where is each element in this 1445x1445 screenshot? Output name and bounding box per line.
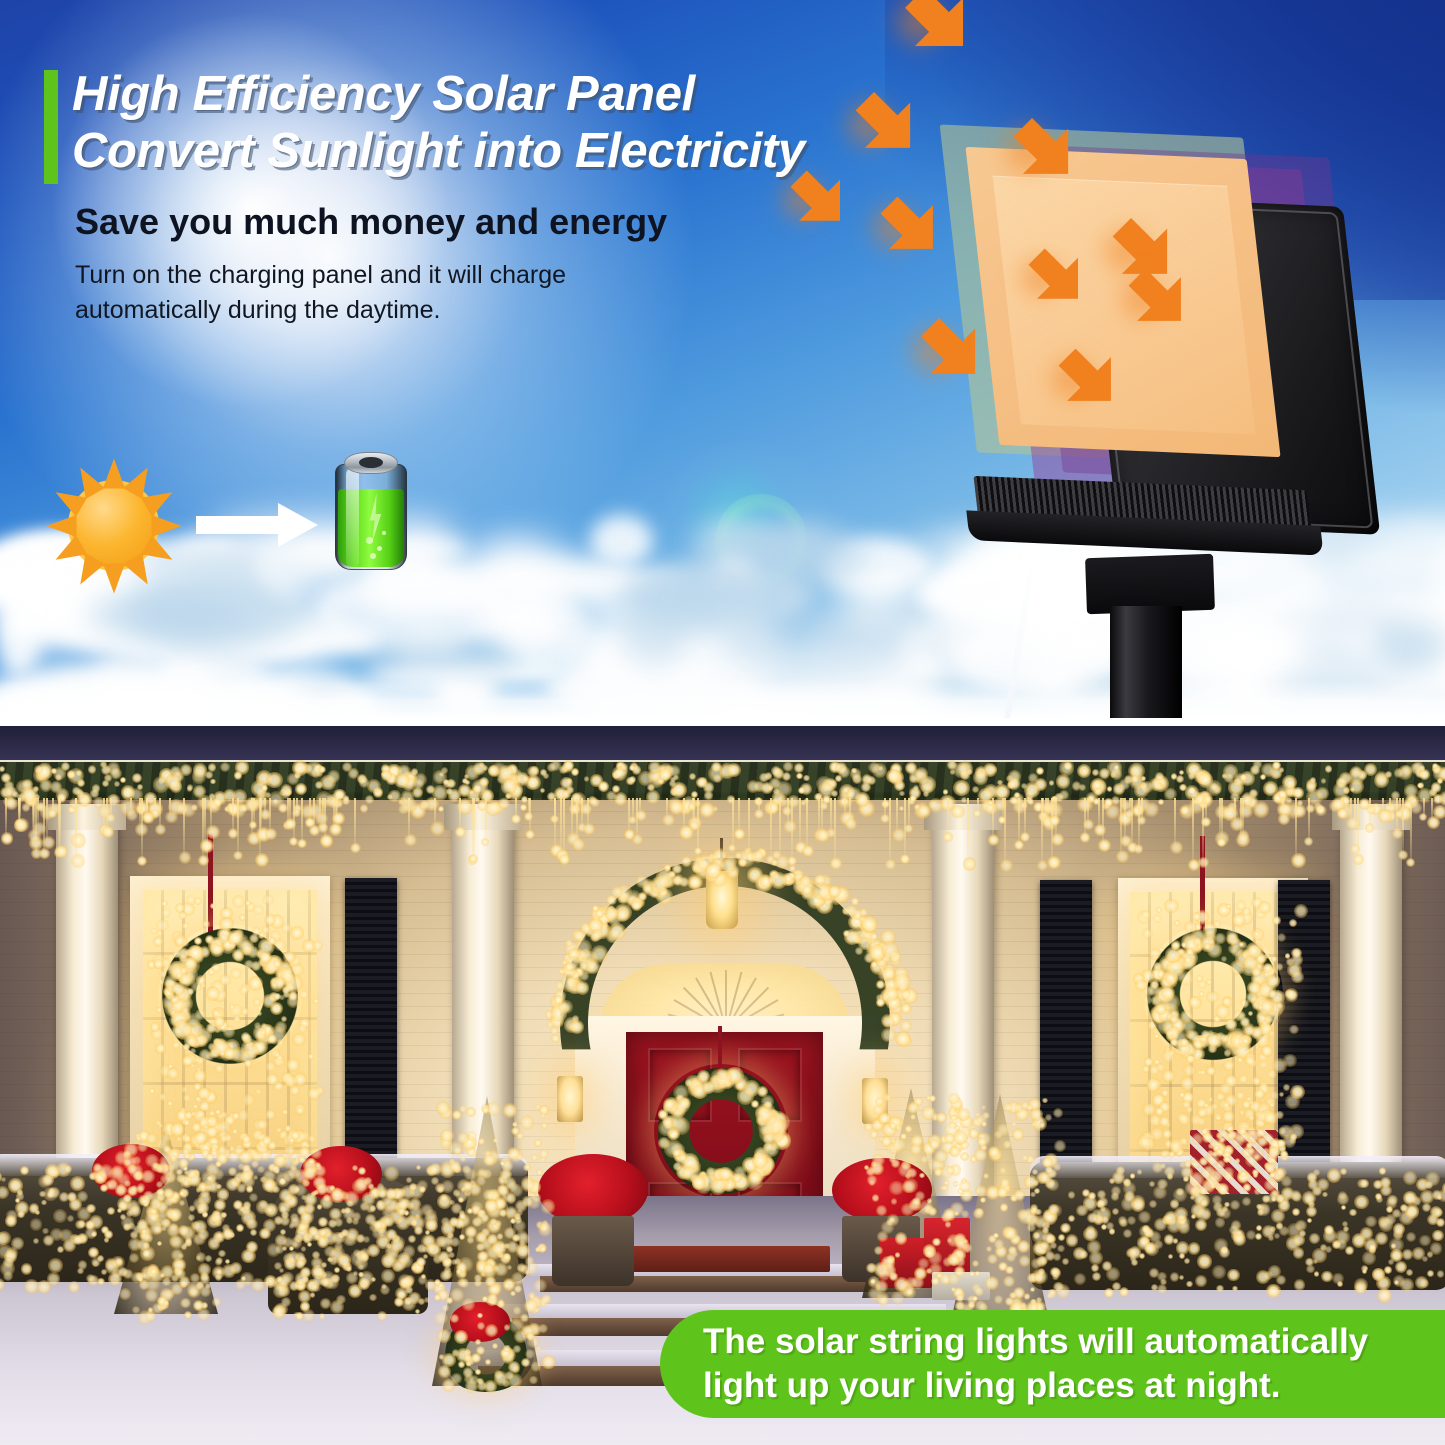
string-light-bulb xyxy=(1400,1278,1414,1292)
string-light-bulb xyxy=(239,986,249,996)
string-light-bulb xyxy=(285,818,296,829)
string-light-bulb xyxy=(1183,1064,1196,1077)
string-light-bulb xyxy=(20,1166,28,1174)
string-light-bulb xyxy=(659,768,672,781)
string-light-bulb xyxy=(281,1297,291,1307)
string-light-bulb xyxy=(329,823,342,836)
cloud-puff xyxy=(0,699,115,718)
string-light-bulb xyxy=(565,939,573,947)
string-light-bulb xyxy=(180,1298,191,1309)
string-light-bulb xyxy=(17,1189,24,1196)
string-light-bulb xyxy=(449,1160,461,1172)
icicle-light-strand xyxy=(1410,798,1412,862)
string-light-bulb xyxy=(528,1192,536,1200)
string-light-bulb xyxy=(1236,833,1250,847)
string-light-bulb xyxy=(1050,1242,1057,1249)
string-light-bulb xyxy=(1332,1273,1344,1285)
string-light-bulb xyxy=(953,780,969,796)
string-light-bulb xyxy=(483,1154,495,1166)
string-light-bulb xyxy=(541,1122,548,1129)
string-light-bulb xyxy=(900,1003,911,1014)
string-light-bulb xyxy=(1062,1258,1068,1264)
icicle-light-strand xyxy=(992,798,994,838)
string-light-bulb xyxy=(208,1237,220,1249)
icicle-light-strand xyxy=(473,798,475,858)
string-light-bulb xyxy=(1003,1276,1015,1288)
string-light-bulb xyxy=(209,1110,215,1116)
string-light-bulb xyxy=(360,804,368,812)
string-light-bulb xyxy=(298,1024,307,1033)
planter-left xyxy=(552,1216,634,1286)
string-light-bulb xyxy=(629,776,635,782)
panel-divider xyxy=(0,718,1445,726)
string-light-bulb xyxy=(381,1269,395,1283)
string-light-bulb xyxy=(1045,1114,1052,1121)
string-light-bulb xyxy=(273,1284,287,1298)
string-light-bulb xyxy=(1291,971,1303,983)
string-light-bulb xyxy=(191,1122,202,1133)
string-light-bulb xyxy=(919,1173,924,1178)
string-light-bulb xyxy=(867,1175,877,1185)
string-light-bulb xyxy=(327,770,340,783)
string-light-bulb xyxy=(1215,1217,1225,1227)
string-light-bulb xyxy=(1,832,13,844)
string-light-bulb xyxy=(560,777,572,789)
string-light-bulb xyxy=(421,1204,433,1216)
string-light-bulb xyxy=(244,1059,253,1068)
string-light-bulb xyxy=(521,1358,530,1367)
string-light-bulb xyxy=(1286,797,1292,803)
string-light-bulb xyxy=(1208,1097,1213,1102)
battery-bubble xyxy=(377,546,382,551)
string-light-bulb xyxy=(1066,1234,1078,1246)
string-light-bulb xyxy=(719,1167,733,1181)
icicle-light-strand xyxy=(269,798,271,832)
string-light-bulb xyxy=(246,1045,259,1058)
string-light-bulb xyxy=(86,1204,95,1213)
string-light-bulb xyxy=(1327,1168,1341,1182)
string-light-bulb xyxy=(1000,859,1013,872)
string-light-bulb xyxy=(511,1127,519,1135)
string-light-bulb xyxy=(1224,1049,1231,1056)
string-light-bulb xyxy=(605,908,618,921)
string-light-bulb xyxy=(301,1212,311,1222)
string-light-bulb xyxy=(1123,1182,1136,1195)
string-light-bulb xyxy=(590,798,600,808)
string-light-bulb xyxy=(135,823,148,836)
string-light-bulb xyxy=(281,1211,289,1219)
string-light-bulb xyxy=(1278,813,1290,825)
string-light-bulb xyxy=(218,1250,226,1258)
string-light-bulb xyxy=(132,1306,140,1314)
string-light-bulb xyxy=(478,1138,485,1145)
string-light-bulb xyxy=(521,1178,535,1192)
string-light-bulb xyxy=(864,1123,872,1131)
string-light-bulb xyxy=(471,1353,481,1363)
string-light-bulb xyxy=(257,1119,268,1130)
string-light-bulb xyxy=(295,1272,308,1285)
string-light-bulb xyxy=(973,809,981,817)
string-light-bulb xyxy=(437,1186,444,1193)
string-light-bulb xyxy=(608,923,625,940)
icicle-light-strand xyxy=(1102,798,1104,843)
string-light-bulb xyxy=(1432,1190,1442,1200)
string-light-bulb xyxy=(1170,1038,1178,1046)
string-light-bulb xyxy=(1125,809,1134,818)
string-light-bulb xyxy=(259,1200,268,1209)
string-light-bulb xyxy=(477,1313,482,1318)
icicle-light-strand xyxy=(821,798,823,833)
string-light-bulb xyxy=(1159,1116,1170,1127)
icicle-light-strand xyxy=(554,798,556,848)
string-light-bulb xyxy=(466,1361,472,1367)
string-light-bulb xyxy=(358,1272,364,1278)
string-light-bulb xyxy=(732,1173,741,1182)
string-light-bulb xyxy=(120,1214,126,1220)
solar-panel-feature-panel: High Efficiency Solar Panel Convert Sunl… xyxy=(0,0,1445,718)
icicle-light-strand xyxy=(408,798,410,838)
icicle-light-strand xyxy=(1192,798,1194,863)
string-light-bulb xyxy=(148,1307,153,1312)
string-light-bulb xyxy=(262,1135,273,1146)
icicle-light-strand xyxy=(628,798,630,833)
string-light-bulb xyxy=(197,1087,211,1101)
string-light-bulb xyxy=(494,1371,508,1385)
string-light-bulb xyxy=(1079,1250,1088,1259)
icicle-light-strand xyxy=(1138,798,1140,848)
string-light-bulb xyxy=(850,768,862,780)
string-light-bulb xyxy=(466,1107,475,1116)
string-light-bulb xyxy=(1143,995,1153,1005)
string-light-bulb xyxy=(73,1235,83,1245)
string-light-bulb xyxy=(534,1139,542,1147)
string-light-bulb xyxy=(974,1287,984,1297)
string-light-bulb xyxy=(189,1287,198,1296)
string-light-bulb xyxy=(1004,1227,1017,1240)
string-light-bulb xyxy=(994,1295,1003,1304)
string-light-bulb xyxy=(159,970,167,978)
string-light-bulb xyxy=(395,1287,408,1300)
string-light-bulb xyxy=(184,1120,190,1126)
string-light-bulb xyxy=(570,1020,584,1034)
string-light-bulb xyxy=(12,791,19,798)
string-light-bulb xyxy=(85,1220,95,1230)
string-light-bulb xyxy=(1186,1054,1196,1064)
string-light-bulb xyxy=(1042,1098,1047,1103)
string-light-bulb xyxy=(1384,1266,1391,1273)
string-light-bulb xyxy=(883,1093,892,1102)
string-light-bulb xyxy=(1141,910,1151,920)
string-light-bulb xyxy=(1094,788,1102,796)
caption-line-1: The solar string lights will automatical… xyxy=(703,1320,1368,1364)
icicle-light-strand xyxy=(904,798,906,858)
string-light-bulb xyxy=(881,1136,892,1147)
string-light-bulb xyxy=(1059,760,1075,776)
string-light-bulb xyxy=(381,1253,396,1268)
icicle-light-strand xyxy=(830,798,832,832)
string-light-bulb xyxy=(239,914,246,921)
string-light-bulb xyxy=(876,998,885,1007)
string-light-bulb xyxy=(1092,769,1098,775)
string-light-bulb xyxy=(1087,1240,1100,1253)
string-light-bulb xyxy=(1337,808,1347,818)
battery-glass-highlight xyxy=(346,468,359,568)
string-light-bulb xyxy=(261,1023,267,1029)
string-light-bulb xyxy=(355,1177,369,1191)
string-light-bulb xyxy=(1309,1233,1320,1244)
string-light-bulb xyxy=(1285,988,1299,1002)
string-light-bulb xyxy=(882,967,896,981)
string-light-bulb xyxy=(511,1272,525,1286)
string-light-bulb xyxy=(213,798,222,807)
string-light-bulb xyxy=(1276,1002,1283,1009)
string-light-bulb xyxy=(467,1208,473,1214)
string-light-bulb xyxy=(620,763,628,771)
string-light-bulb xyxy=(1258,901,1271,914)
cloud-puff xyxy=(323,681,380,718)
string-light-bulb xyxy=(1276,963,1283,970)
string-light-bulb xyxy=(150,1022,159,1031)
string-light-bulb xyxy=(214,1214,222,1222)
string-light-bulb xyxy=(362,1192,375,1205)
string-light-bulb xyxy=(1248,945,1259,956)
string-light-bulb xyxy=(88,1247,99,1258)
string-light-bulb xyxy=(895,1031,911,1047)
string-light-bulb xyxy=(1299,1230,1306,1237)
string-light-bulb xyxy=(993,1233,998,1238)
string-light-bulb xyxy=(501,778,517,794)
string-light-bulb xyxy=(448,1252,454,1258)
string-light-bulb xyxy=(646,790,660,804)
string-light-bulb xyxy=(1178,1113,1191,1126)
string-light-bulb xyxy=(1362,1251,1376,1265)
string-light-bulb xyxy=(377,1311,387,1321)
string-light-bulb xyxy=(404,834,417,847)
string-light-bulb xyxy=(1365,1216,1376,1227)
icicle-light-strand xyxy=(571,798,573,836)
cloud-puff xyxy=(353,644,521,672)
string-light-bulb xyxy=(1392,828,1402,838)
string-light-bulb xyxy=(155,824,166,835)
string-light-bulb xyxy=(123,1194,132,1203)
string-light-bulb xyxy=(1228,944,1238,954)
string-light-bulb xyxy=(1291,948,1302,959)
string-light-bulb xyxy=(215,1258,222,1265)
string-light-bulb xyxy=(165,774,181,790)
string-light-bulb xyxy=(279,995,284,1000)
string-light-bulb xyxy=(769,778,781,790)
string-light-bulb xyxy=(235,1279,246,1290)
string-light-bulb xyxy=(1157,1284,1167,1294)
string-light-bulb xyxy=(320,834,333,847)
string-light-bulb xyxy=(1391,1243,1397,1249)
icicle-light-strand xyxy=(43,798,45,852)
string-light-bulb xyxy=(1060,1223,1071,1234)
string-light-bulb xyxy=(178,1225,188,1235)
string-light-bulb xyxy=(397,1198,409,1210)
string-light-bulb xyxy=(233,851,243,861)
string-light-bulb xyxy=(353,1271,358,1276)
string-light-bulb xyxy=(977,1137,987,1147)
string-light-bulb xyxy=(1165,1029,1173,1037)
string-light-bulb xyxy=(419,1186,426,1193)
string-light-bulb xyxy=(1099,768,1110,779)
string-light-bulb xyxy=(208,763,216,771)
string-light-bulb xyxy=(579,971,589,981)
string-light-bulb xyxy=(474,1274,481,1281)
string-light-bulb xyxy=(365,795,374,804)
string-light-bulb xyxy=(438,806,444,812)
string-light-bulb xyxy=(876,1205,886,1215)
string-light-bulb xyxy=(507,1241,519,1253)
icicle-light-strand xyxy=(260,798,262,831)
string-light-bulb xyxy=(1212,1195,1222,1205)
string-light-bulb xyxy=(1271,769,1281,779)
string-light-bulb xyxy=(540,1246,546,1252)
icicle-light-strand xyxy=(636,798,638,838)
icicle-light-strand xyxy=(301,798,303,843)
icicle-light-strand xyxy=(732,798,734,848)
string-light-bulb xyxy=(210,779,216,785)
string-light-bulb xyxy=(900,854,910,864)
battery-bubble xyxy=(370,553,376,559)
string-light-bulb xyxy=(283,951,296,964)
string-light-bulb xyxy=(1227,1269,1240,1282)
string-light-bulb xyxy=(885,859,896,870)
string-light-bulb xyxy=(411,1265,417,1271)
string-light-bulb xyxy=(503,1253,511,1261)
string-light-bulb xyxy=(1134,783,1149,798)
string-light-bulb xyxy=(132,773,142,783)
string-light-bulb xyxy=(538,1324,547,1333)
string-light-bulb xyxy=(252,927,261,936)
string-light-bulb xyxy=(1188,996,1201,1009)
string-light-bulb xyxy=(223,1025,235,1037)
string-light-bulb xyxy=(1248,1011,1253,1016)
string-light-bulb xyxy=(72,787,80,795)
cloud-puff xyxy=(49,680,239,704)
string-light-bulb xyxy=(1380,1177,1391,1188)
string-light-bulb xyxy=(1432,1230,1444,1242)
string-light-bulb xyxy=(1184,921,1196,933)
string-light-bulb xyxy=(911,1134,924,1147)
string-light-bulb xyxy=(547,763,555,771)
string-light-bulb xyxy=(294,1186,301,1193)
string-light-bulb xyxy=(949,1255,960,1266)
body-line-1: Turn on the charging panel and it will c… xyxy=(75,258,755,293)
string-light-bulb xyxy=(1306,782,1317,793)
string-light-bulb xyxy=(282,1109,287,1114)
string-light-bulb xyxy=(28,829,41,842)
string-light-bulb xyxy=(1266,1284,1281,1299)
string-light-bulb xyxy=(882,1016,895,1029)
string-light-bulb xyxy=(1403,1191,1417,1205)
string-light-bulb xyxy=(330,1188,344,1202)
string-light-bulb xyxy=(1021,1101,1029,1109)
string-light-bulb xyxy=(1149,778,1161,790)
string-light-bulb xyxy=(485,1359,491,1365)
string-light-bulb xyxy=(298,1223,307,1232)
string-light-bulb xyxy=(485,1199,499,1213)
string-light-bulb xyxy=(580,948,591,959)
string-light-bulb xyxy=(1147,1021,1157,1031)
string-light-bulb xyxy=(299,990,308,999)
string-light-bulb xyxy=(394,773,409,788)
string-light-bulb xyxy=(1294,904,1308,918)
string-light-bulb xyxy=(1365,823,1375,833)
string-light-bulb xyxy=(267,1034,277,1044)
string-light-bulb xyxy=(1393,1223,1405,1235)
string-light-bulb xyxy=(1216,1032,1225,1041)
icicle-light-strand xyxy=(183,798,185,855)
icicle-light-strand xyxy=(232,798,234,832)
string-light-bulb xyxy=(1053,1163,1061,1171)
icicle-light-strand xyxy=(576,798,578,842)
string-light-bulb xyxy=(895,1252,901,1258)
string-light-bulb xyxy=(350,843,360,853)
string-light-bulb xyxy=(1130,1255,1136,1261)
string-light-bulb xyxy=(251,1160,259,1168)
string-light-bulb xyxy=(771,766,781,776)
cloud-puff xyxy=(718,685,947,718)
string-light-bulb xyxy=(171,1249,183,1261)
string-light-bulb xyxy=(507,1147,520,1160)
icicle-light-strand xyxy=(1242,798,1244,834)
string-light-bulb xyxy=(1088,1192,1096,1200)
cloud-puff xyxy=(834,574,902,611)
cloud-puff xyxy=(354,677,467,696)
string-light-bulb xyxy=(1199,991,1204,996)
string-light-bulb xyxy=(864,1165,869,1170)
string-light-bulb xyxy=(1186,1106,1193,1113)
string-light-bulb xyxy=(662,814,674,826)
icicle-light-strand xyxy=(1308,798,1310,841)
cloud-puff xyxy=(202,688,316,718)
string-light-bulb xyxy=(1354,1282,1366,1294)
string-light-bulb xyxy=(200,839,214,853)
string-light-bulb xyxy=(1253,801,1269,817)
string-light-bulb xyxy=(64,1165,72,1173)
string-light-bulb xyxy=(1053,1282,1064,1293)
string-light-bulb xyxy=(1005,1266,1013,1274)
string-light-bulb xyxy=(77,1191,88,1202)
string-light-bulb xyxy=(462,1181,473,1192)
icicle-light-strand xyxy=(1221,798,1223,842)
string-light-bulb xyxy=(382,1214,394,1226)
string-light-bulb xyxy=(629,765,635,771)
string-light-bulb xyxy=(523,1164,530,1171)
string-light-bulb xyxy=(242,1093,255,1106)
string-light-bulb xyxy=(945,1221,952,1228)
icicle-light-strand xyxy=(806,798,808,849)
string-light-bulb xyxy=(126,809,138,821)
string-light-bulb xyxy=(459,1105,467,1113)
string-light-bulb xyxy=(928,1251,942,1265)
string-light-bulb xyxy=(1374,773,1389,788)
string-light-bulb xyxy=(437,1329,451,1343)
string-light-bulb xyxy=(1406,1269,1413,1276)
string-light-bulb xyxy=(172,1041,180,1049)
string-light-bulb xyxy=(860,915,878,933)
sun-ray xyxy=(103,458,125,488)
string-light-bulb xyxy=(1294,1279,1306,1291)
string-light-bulb xyxy=(679,825,693,839)
caption-banner: The solar string lights will automatical… xyxy=(660,1310,1445,1418)
string-light-bulb xyxy=(1056,774,1070,788)
string-light-bulb xyxy=(1263,1148,1269,1154)
string-light-bulb xyxy=(179,851,191,863)
battery-cap-inner xyxy=(359,457,383,468)
